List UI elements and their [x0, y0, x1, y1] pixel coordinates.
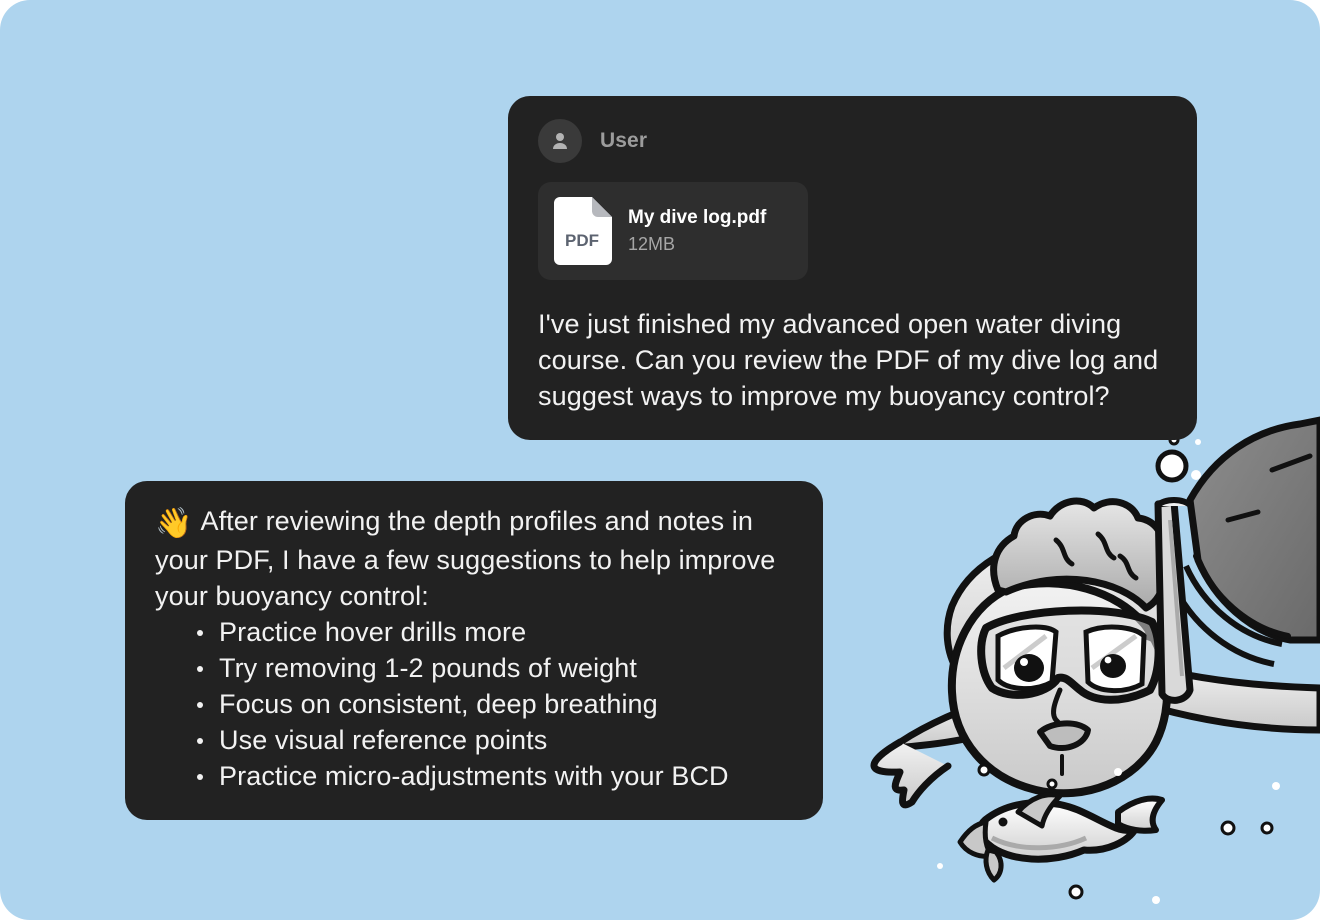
- attachment-size: 12MB: [628, 234, 766, 256]
- wetsuit-arm: [1190, 420, 1320, 640]
- dive-mask: [981, 611, 1158, 700]
- fish: [960, 795, 1162, 880]
- list-item: Practice micro-adjustments with your BCD: [193, 758, 795, 794]
- user-message-text: I've just finished my advanced open wate…: [538, 306, 1167, 414]
- diver-left-arm: [874, 700, 1006, 805]
- suggestion-list: Practice hover drills more Try removing …: [155, 614, 795, 794]
- assistant-intro-paragraph: 👋After reviewing the depth profiles and …: [155, 503, 795, 614]
- user-message-bubble: User PDF My dive log.pdf 12MB I've just …: [508, 96, 1197, 440]
- avatar: [538, 119, 582, 163]
- list-item: Focus on consistent, deep breathing: [193, 686, 795, 722]
- svg-text:PDF: PDF: [565, 231, 599, 250]
- assistant-message-bubble: 👋After reviewing the depth profiles and …: [125, 481, 823, 820]
- attachment-meta: My dive log.pdf 12MB: [628, 206, 766, 255]
- assistant-intro-text: After reviewing the depth profiles and n…: [155, 506, 775, 611]
- screenshot-canvas: User PDF My dive log.pdf 12MB I've just …: [0, 0, 1320, 920]
- sender-name: User: [600, 129, 647, 153]
- person-icon: [548, 129, 572, 153]
- list-item: Try removing 1-2 pounds of weight: [193, 650, 795, 686]
- waving-hand-icon: 👋: [155, 507, 192, 540]
- user-header: User: [538, 118, 1167, 164]
- list-item: Use visual reference points: [193, 722, 795, 758]
- diver-head: [952, 501, 1174, 793]
- wetsuit-cuff: [1176, 566, 1282, 664]
- snorkel: [1157, 500, 1191, 700]
- attachment-name: My dive log.pdf: [628, 206, 766, 230]
- pdf-file-icon: PDF: [554, 197, 612, 265]
- diver-right-arm: [1136, 664, 1320, 730]
- diver-torso: [947, 540, 1166, 700]
- attachment-card[interactable]: PDF My dive log.pdf 12MB: [538, 182, 808, 280]
- list-item: Practice hover drills more: [193, 614, 795, 650]
